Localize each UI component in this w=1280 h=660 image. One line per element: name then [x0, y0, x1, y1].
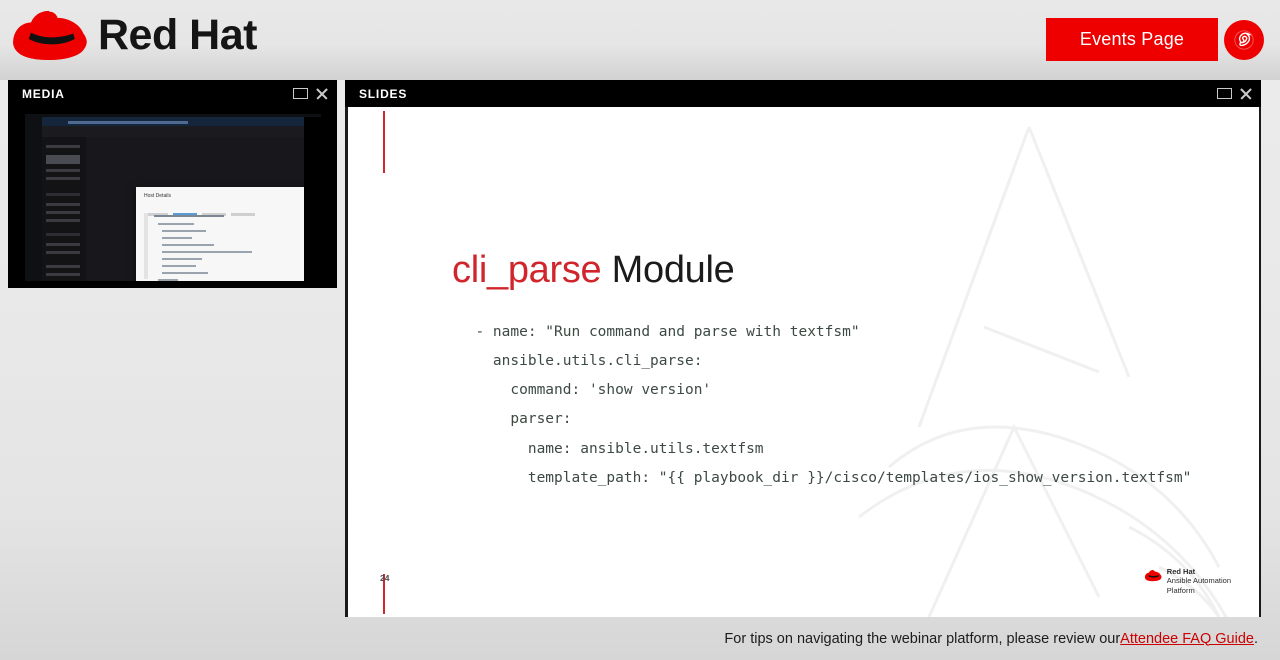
restore-window-icon[interactable] [293, 88, 308, 99]
slide-footer-line2: Platform [1167, 586, 1195, 595]
media-screenshare-thumbnail: Host Details ✕ [25, 114, 321, 281]
close-icon[interactable] [1239, 87, 1253, 101]
slide-title-accent: cli_parse [452, 249, 601, 291]
webinar-console: Red Hat Events Page MEDIA [0, 0, 1280, 660]
slide-footer-logo-text: Red Hat Ansible Automation Platform [1167, 567, 1231, 595]
slides-panel-title: SLIDES [359, 87, 1217, 101]
help-badge-button[interactable] [1224, 20, 1264, 60]
status-bar: For tips on navigating the webinar platf… [0, 617, 1280, 660]
slide-title: cli_parse Module [452, 249, 734, 292]
thumb-app-toolbar [42, 126, 304, 137]
restore-window-icon[interactable] [1217, 88, 1232, 99]
slide-footer-line1: Ansible Automation [1167, 576, 1231, 585]
thumb-modal-dialog: Host Details ✕ [136, 187, 321, 281]
slide-code-block: - name: "Run command and parse with text… [458, 318, 1191, 494]
status-text-before: For tips on navigating the webinar platf… [724, 631, 1120, 647]
slide-footer-logo: Red Hat Ansible Automation Platform [1144, 567, 1231, 595]
slide-stage[interactable]: cli_parse Module - name: "Run command an… [345, 107, 1261, 617]
thumb-right-fill [304, 117, 321, 281]
close-icon[interactable] [315, 87, 329, 101]
media-video-area[interactable]: Host Details ✕ [8, 107, 337, 288]
slides-panel-titlebar: SLIDES [345, 80, 1261, 107]
thumb-code-gutter [144, 213, 148, 279]
media-panel-title: MEDIA [22, 87, 293, 101]
status-text-after: . [1254, 631, 1258, 647]
slides-panel-window-controls [1217, 87, 1253, 101]
slides-panel: SLIDES [345, 80, 1261, 617]
thumb-browser-tabbar [42, 117, 304, 126]
thumb-modal-title: Host Details [144, 193, 171, 199]
red-hat-fedora-logo-icon [1144, 569, 1162, 582]
media-panel: MEDIA [8, 80, 337, 288]
attendee-faq-guide-link[interactable]: Attendee FAQ Guide [1120, 631, 1254, 647]
help-swirl-icon [1232, 28, 1256, 52]
slide-accent-line-top [383, 111, 385, 173]
brand-logo: Red Hat [10, 6, 257, 64]
thumb-modal-tabs [144, 203, 264, 208]
thumb-app-content: Host Details ✕ [86, 137, 304, 281]
brand-name: Red Hat [98, 14, 257, 57]
top-header: Red Hat Events Page [0, 0, 1280, 80]
thumb-tab-title [68, 121, 188, 124]
media-panel-window-controls [293, 87, 329, 101]
slide-title-rest: Module [601, 249, 734, 291]
slide-page-number: 24 [380, 573, 389, 583]
slide-footer-brand: Red Hat [1167, 567, 1231, 576]
media-panel-titlebar: MEDIA [8, 80, 337, 107]
red-hat-fedora-logo-icon [10, 6, 88, 64]
events-page-button[interactable]: Events Page [1046, 18, 1218, 61]
slide-canvas: cli_parse Module - name: "Run command an… [348, 107, 1259, 617]
thumb-app-sidebar [42, 137, 86, 281]
